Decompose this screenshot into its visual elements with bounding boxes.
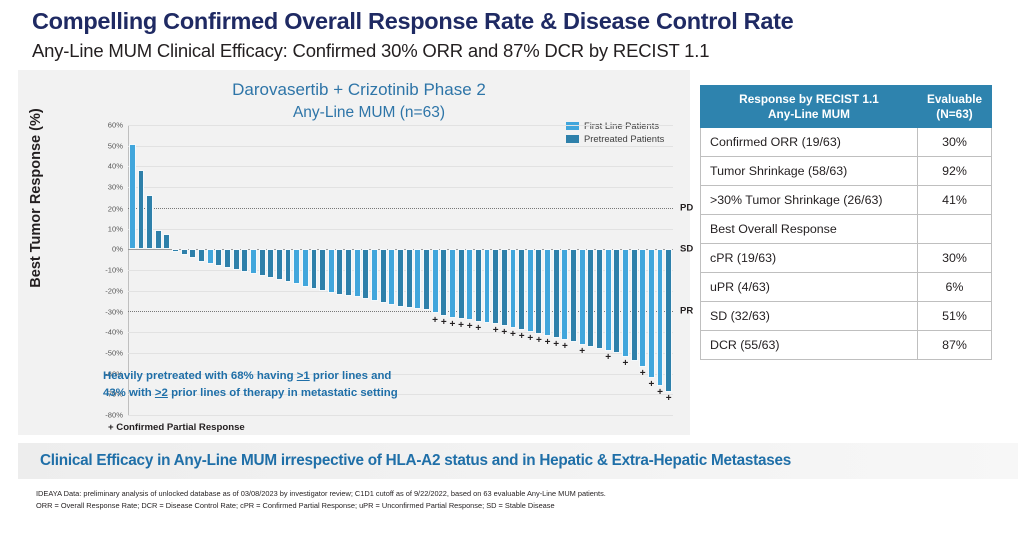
waterfall-bar [501,249,508,326]
waterfall-bar [423,249,430,310]
footnote-line-2: ORR = Overall Response Rate; DCR = Disea… [36,501,555,510]
table-row: cPR (19/63)30% [701,244,992,273]
confirmed-pr-marker: + [605,353,611,363]
y-axis-tick-label: 50% [108,141,123,150]
waterfall-bar [605,249,612,351]
confirmed-pr-marker: + [527,334,533,344]
waterfall-bar [613,249,620,353]
y-axis-tick-label: -40% [105,328,123,337]
waterfall-bar [163,234,170,250]
table-cell-value: 51% [918,302,992,331]
waterfall-bar [527,249,534,332]
waterfall-bar [397,249,404,307]
annotation-line1-b: >1 [297,370,310,382]
confirmed-pr-marker: + [449,320,455,330]
confirmed-pr-marker: + [640,369,646,379]
confirmed-pr-marker: + [579,347,585,357]
waterfall-bar [215,249,222,266]
table-row: Tumor Shrinkage (58/63)92% [701,157,992,186]
waterfall-bar [406,249,413,308]
header-col2-line1: Evaluable [922,92,987,107]
waterfall-bar [587,249,594,346]
table-cell-value: 30% [918,128,992,157]
table-cell-value [918,215,992,244]
confirmed-pr-marker: + [648,380,654,390]
y-axis-tick-label: 60% [108,121,123,130]
y-axis-tick-label: -10% [105,266,123,275]
waterfall-bar [129,144,136,250]
table-row: Confirmed ORR (19/63)30% [701,128,992,157]
table-cell-value: 6% [918,273,992,302]
table-header-response: Response by RECIST 1.1 Any-Line MUM [701,86,918,128]
waterfall-bar [328,249,335,293]
y-axis-tick-label: 40% [108,162,123,171]
y-axis-tick-label: -20% [105,286,123,295]
zone-label-pr: PR [680,306,693,317]
y-axis-tick-label: 30% [108,183,123,192]
waterfall-bar [293,249,300,284]
footnote-line-1: IDEAYA Data: preliminary analysis of unl… [36,489,606,498]
confirmed-pr-marker: + [458,321,464,331]
y-axis-tick-label: 10% [108,224,123,233]
table-cell-label: Tumor Shrinkage (58/63) [701,157,918,186]
confirmed-pr-marker: + [657,388,663,398]
annotation-line2-c: prior lines of therapy in metastatic set… [168,387,398,399]
y-axis-title: Best Tumor Response (%) [28,98,44,298]
table-row: >30% Tumor Shrinkage (26/63)41% [701,186,992,215]
confirmed-pr-marker: + [510,330,516,340]
waterfall-bar [267,249,274,278]
waterfall-bar [579,249,586,344]
y-axis-tick-label: 0% [112,245,123,254]
table-cell-label: >30% Tumor Shrinkage (26/63) [701,186,918,215]
waterfall-bar [414,249,421,309]
waterfall-bar [639,249,646,367]
confirmed-pr-marker: + [493,326,499,336]
waterfall-bar [466,249,473,319]
confirmed-pr-marker: + [475,324,481,334]
waterfall-bar [138,170,145,250]
waterfall-bar [302,249,309,286]
zone-label-pd: PD [680,202,693,213]
gridline: -80% [128,415,673,416]
waterfall-bar [172,249,179,252]
table-cell-value: 41% [918,186,992,215]
table-row: uPR (4/63)6% [701,273,992,302]
table-header-row: Response by RECIST 1.1 Any-Line MUM Eval… [701,86,992,128]
table-cell-label: cPR (19/63) [701,244,918,273]
confirmed-pr-marker: + [666,394,672,404]
table-cell-label: Confirmed ORR (19/63) [701,128,918,157]
waterfall-bar [665,249,672,392]
waterfall-bar [458,249,465,318]
waterfall-bar [535,249,542,334]
annotation-line1-c: prior lines and [310,370,392,382]
confirmed-pr-marker: + [501,328,507,338]
waterfall-bar [189,249,196,257]
confirmed-pr-marker: + [432,316,438,326]
table-cell-label: DCR (55/63) [701,331,918,360]
table-head: Response by RECIST 1.1 Any-Line MUM Eval… [701,86,992,128]
table-row: SD (32/63)51% [701,302,992,331]
waterfall-bar [388,249,395,305]
confirmed-pr-marker: + [562,342,568,352]
waterfall-bar [561,249,568,340]
y-axis-tick-label: 20% [108,204,123,213]
waterfall-bar [518,249,525,330]
waterfall-bar [622,249,629,357]
waterfall-bar [285,249,292,282]
waterfall-bar [233,249,240,270]
table-cell-label: uPR (4/63) [701,273,918,302]
confirmed-pr-marker: + [536,336,542,346]
waterfall-bar [362,249,369,299]
table-cell-value: 92% [918,157,992,186]
waterfall-bar [241,249,248,272]
slide-root: Compelling Confirmed Overall Response Ra… [0,0,1023,550]
confirmed-pr-marker: + [441,318,447,328]
chart-title: Darovasertib + Crizotinib Phase 2 [18,80,690,100]
waterfall-bar [510,249,517,328]
waterfall-bar [449,249,456,317]
waterfall-bar [181,249,188,255]
response-table-wrap: Response by RECIST 1.1 Any-Line MUM Eval… [700,85,992,360]
waterfall-bar [336,249,343,295]
confirmed-pr-marker: + [545,338,551,348]
annotation-line1-a: Heavily pretreated with 68% having [103,370,297,382]
confirmed-pr-marker: + [467,322,473,332]
waterfall-bar [657,249,664,386]
waterfall-bar [475,249,482,322]
waterfall-bar [146,195,153,249]
y-axis-tick-label: -80% [105,411,123,420]
waterfall-bar [631,249,638,361]
response-table: Response by RECIST 1.1 Any-Line MUM Eval… [700,85,992,360]
waterfall-bar [432,249,439,313]
waterfall-bar [311,249,318,288]
waterfall-bar [380,249,387,303]
waterfall-bar [198,249,205,261]
waterfall-chart-panel: Darovasertib + Crizotinib Phase 2 Any-Li… [18,70,690,435]
header-col1-line1: Response by RECIST 1.1 [705,92,913,107]
confirmed-pr-marker: + [553,340,559,350]
waterfall-bar [371,249,378,301]
waterfall-bar [492,249,499,324]
waterfall-bar [250,249,257,274]
confirmed-pr-marker: + [622,359,628,369]
waterfall-bar [224,249,231,268]
banner-text: Clinical Efficacy in Any-Line MUM irresp… [18,452,791,470]
waterfall-bar [596,249,603,348]
chart-annotation: Heavily pretreated with 68% having >1 pr… [103,368,443,401]
annotation-line2-a: 43% with [103,387,155,399]
waterfall-bar [319,249,326,290]
table-cell-value: 30% [918,244,992,273]
y-axis-tick-label: -50% [105,348,123,357]
waterfall-bar [276,249,283,280]
page-title: Compelling Confirmed Overall Response Ra… [32,8,992,35]
waterfall-bar [440,249,447,315]
table-cell-value: 87% [918,331,992,360]
waterfall-bar [259,249,266,276]
annotation-line2-b: >2 [155,387,168,399]
waterfall-bar [648,249,655,377]
table-header-evaluable: Evaluable (N=63) [918,86,992,128]
confirmed-pr-marker: + [519,332,525,342]
header-col1-line2: Any-Line MUM [705,107,913,122]
zone-label-sd: SD [680,244,693,255]
waterfall-bar [553,249,560,338]
chart-footnote: + Confirmed Partial Response [108,422,245,433]
waterfall-bar [345,249,352,296]
y-axis-tick-label: -30% [105,308,123,317]
table-row: DCR (55/63)87% [701,331,992,360]
waterfall-bar [484,249,491,323]
header-col2-line2: (N=63) [922,107,987,122]
waterfall-bar [544,249,551,336]
waterfall-bar [155,230,162,250]
waterfall-bar [570,249,577,342]
table-body: Confirmed ORR (19/63)30%Tumor Shrinkage … [701,128,992,360]
table-cell-label: SD (32/63) [701,302,918,331]
table-cell-label: Best Overall Response [701,215,918,244]
waterfall-bar [207,249,214,264]
waterfall-bar [354,249,361,297]
bottom-banner: Clinical Efficacy in Any-Line MUM irresp… [18,443,1018,479]
table-row: Best Overall Response [701,215,992,244]
page-subtitle: Any-Line MUM Clinical Efficacy: Confirme… [32,40,992,62]
